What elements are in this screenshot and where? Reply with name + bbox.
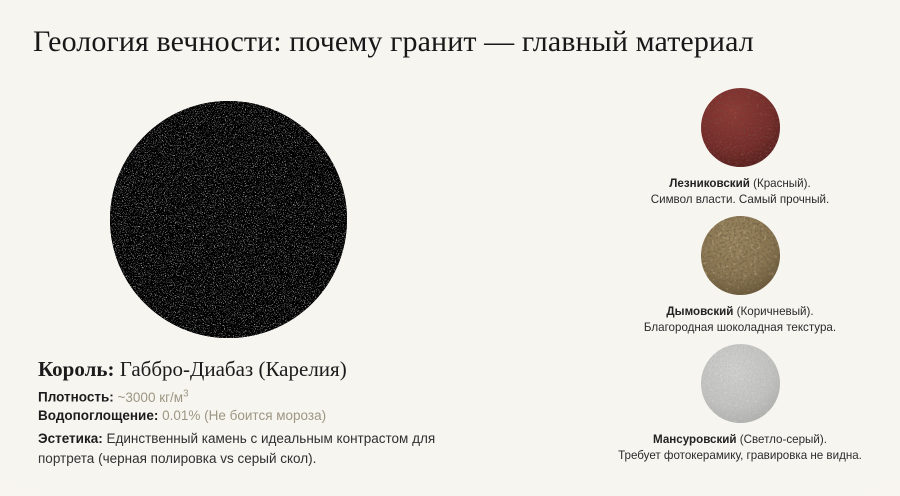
- grey-granite-texture: [701, 344, 780, 423]
- black-granite-texture: [110, 101, 347, 338]
- dymovsky-brown-granite-swatch: [701, 216, 780, 295]
- spec-density-label: Плотность:: [38, 390, 114, 405]
- swatch-color-name: (Коричневый).: [737, 305, 814, 318]
- swatch-name: Мансуровский: [653, 433, 737, 446]
- list-item: Лезниковский (Красный). Символ власти. С…: [595, 88, 885, 207]
- swatch-name: Дымовский: [666, 305, 733, 318]
- granite-swatch-list: Лезниковский (Красный). Символ власти. С…: [595, 88, 885, 473]
- brown-granite-texture: [701, 216, 780, 295]
- swatch-caption: Мансуровский (Светло-серый).: [595, 432, 885, 448]
- spec-water-absorption-value: 0.01% (Не боится мороза): [162, 408, 326, 423]
- swatch-description: Требует фотокерамику, гравировка не видн…: [595, 448, 885, 464]
- leznikovsky-red-granite-swatch: [701, 88, 780, 167]
- spec-water-absorption-label: Водопоглощение:: [38, 408, 158, 423]
- spec-density-value: ~3000 кг/м3: [118, 390, 189, 405]
- red-granite-texture: [701, 88, 780, 167]
- spec-density: Плотность: ~3000 кг/м3: [38, 384, 188, 407]
- list-item: Дымовский (Коричневый). Благородная шоко…: [595, 216, 885, 335]
- spec-aesthetics: Эстетика: Единственный камень с идеальны…: [38, 429, 478, 468]
- spec-aesthetics-label: Эстетика:: [38, 431, 103, 446]
- mansurovsky-grey-granite-swatch: [701, 344, 780, 423]
- hero-king-label: Король:: [38, 357, 114, 381]
- swatch-caption: Лезниковский (Красный).: [595, 176, 885, 192]
- hero-stone-image: [110, 101, 347, 338]
- swatch-caption: Дымовский (Коричневый).: [595, 304, 885, 320]
- spec-density-superscript: 3: [183, 388, 188, 399]
- swatch-description: Символ власти. Самый прочный.: [595, 192, 885, 208]
- swatch-name: Лезниковский: [669, 177, 750, 190]
- swatch-color-name: (Красный).: [753, 177, 811, 190]
- hero-king-value: Габбро-Диабаз (Карелия): [120, 357, 347, 381]
- spec-water-absorption: Водопоглощение: 0.01% (Не боится мороза): [38, 406, 326, 425]
- swatch-color-name: (Светло-серый).: [740, 433, 827, 446]
- slide-canvas: Геология вечности: почему гранит — главн…: [0, 0, 900, 496]
- page-title: Геология вечности: почему гранит — главн…: [33, 23, 873, 61]
- swatch-description: Благородная шоколадная текстура.: [595, 320, 885, 336]
- hero-king-line: Король: Габбро-Диабаз (Карелия): [38, 356, 347, 382]
- list-item: Мансуровский (Светло-серый). Требует фот…: [595, 344, 885, 463]
